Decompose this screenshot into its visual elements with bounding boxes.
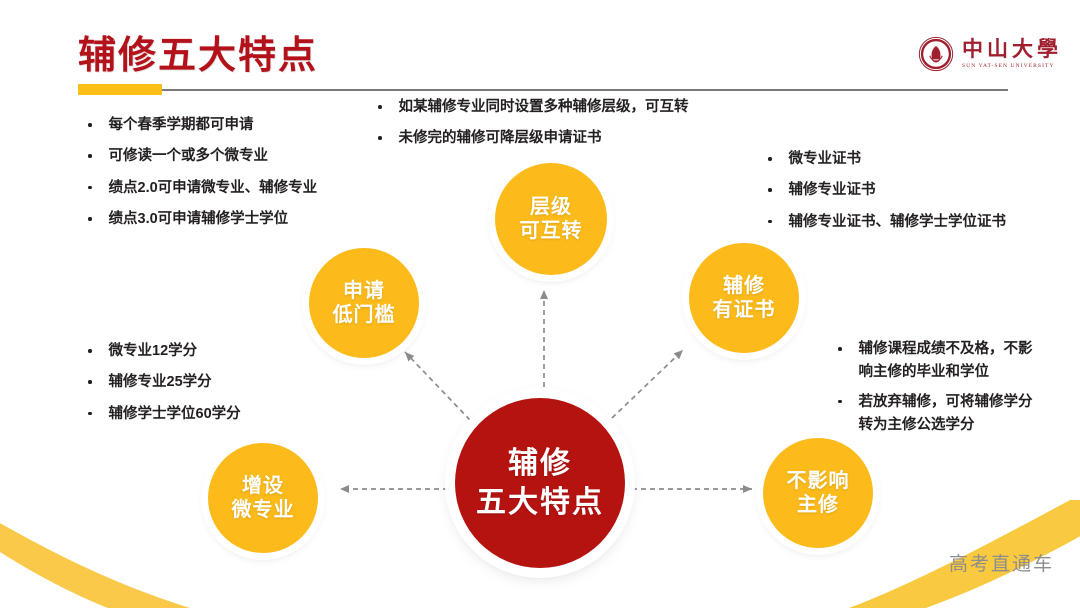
bullet-text: 辅修学士学位60学分	[109, 403, 241, 425]
bullet-dot-icon	[88, 186, 92, 190]
bullet-text: 绩点3.0可申请辅修学士学位	[109, 208, 289, 230]
bullet-dot-icon	[378, 105, 382, 109]
list-item: 辅修专业证书	[768, 179, 1068, 201]
watermark: 高考直通车	[949, 549, 1054, 576]
logo-name-cn: 中山大學	[962, 39, 1062, 60]
bullet-dot-icon	[88, 349, 92, 353]
connector-center-to-apply	[405, 352, 470, 420]
list-item: 如某辅修专业同时设置多种辅修层级，可互转	[378, 96, 758, 118]
connector-center-to-cert	[612, 350, 683, 418]
bullet-text: 若放弃辅修，可将辅修学分 转为主修公选学分	[859, 391, 1033, 438]
page-title: 辅修五大特点	[78, 24, 318, 79]
node-label-line1: 辅修	[723, 274, 765, 298]
list-item: 可修读一个或多个微专业	[88, 145, 388, 167]
bullet-dot-icon	[88, 412, 92, 416]
node-label-line2: 主修	[797, 493, 839, 517]
bullet-group-mid-left: 微专业12学分 辅修专业25学分 辅修学士学位60学分	[88, 340, 348, 434]
bullet-text: 微专业证书	[789, 148, 862, 170]
logo-name-en: SUN YAT-SEN UNIVERSITY	[962, 64, 1062, 70]
node-no-impact-major[interactable]: 不影响 主修	[763, 438, 873, 548]
node-label-line1: 辅修	[508, 444, 572, 483]
list-item: 辅修专业证书、辅修学士学位证书	[768, 211, 1068, 233]
node-label-line2: 五大特点	[476, 483, 604, 522]
list-item: 辅修专业25学分	[88, 371, 348, 393]
node-low-threshold[interactable]: 申请 低门槛	[309, 248, 419, 358]
bullet-dot-icon	[378, 136, 382, 140]
university-logo: 中山大學 SUN YAT-SEN UNIVERSITY	[918, 36, 1062, 72]
node-certificate[interactable]: 辅修 有证书	[689, 243, 799, 353]
node-label-line2: 低门槛	[333, 303, 396, 327]
node-label-line1: 不影响	[787, 469, 850, 493]
list-item: 绩点2.0可申请微专业、辅修专业	[88, 177, 388, 199]
list-item: 辅修课程成绩不及格，不影 响主修的毕业和学位	[838, 338, 1068, 385]
bullet-text: 每个春季学期都可申请	[109, 114, 254, 136]
bullet-dot-icon	[838, 400, 842, 404]
bullet-dot-icon	[768, 188, 772, 192]
bullet-dot-icon	[88, 123, 92, 127]
list-item: 未修完的辅修可降层级申请证书	[378, 127, 758, 149]
node-label-line1: 申请	[343, 279, 385, 303]
bullet-text: 绩点2.0可申请微专业、辅修专业	[109, 177, 318, 199]
bullet-text: 辅修课程成绩不及格，不影 响主修的毕业和学位	[859, 338, 1033, 385]
bullet-text: 辅修专业证书	[789, 179, 876, 201]
title-rule	[78, 89, 1008, 91]
list-item: 辅修学士学位60学分	[88, 403, 348, 425]
bullet-dot-icon	[838, 347, 842, 351]
bullet-group-top-right: 微专业证书 辅修专业证书 辅修专业证书、辅修学士学位证书	[768, 148, 1068, 242]
bullet-text: 可修读一个或多个微专业	[109, 145, 269, 167]
bullet-text: 辅修专业证书、辅修学士学位证书	[789, 211, 1007, 233]
slide: 辅修五大特点 中山大學 SUN YAT-SEN UNIVERSITY	[0, 0, 1080, 608]
list-item: 若放弃辅修，可将辅修学分 转为主修公选学分	[838, 391, 1068, 438]
bullet-text: 微专业12学分	[109, 340, 198, 362]
node-label-line1: 层级	[530, 195, 572, 219]
bullet-dot-icon	[88, 217, 92, 221]
bullet-dot-icon	[88, 380, 92, 384]
title-accent-bar	[78, 84, 162, 95]
bullet-text: 如某辅修专业同时设置多种辅修层级，可互转	[399, 96, 689, 118]
bullet-dot-icon	[768, 220, 772, 224]
bullet-group-top-center: 如某辅修专业同时设置多种辅修层级，可互转 未修完的辅修可降层级申请证书	[378, 96, 758, 159]
node-label-line2: 有证书	[713, 298, 776, 322]
node-label-line2: 微专业	[232, 498, 295, 522]
university-emblem-icon	[918, 36, 954, 72]
bullet-dot-icon	[88, 154, 92, 158]
bullet-dot-icon	[768, 157, 772, 161]
list-item: 每个春季学期都可申请	[88, 114, 388, 136]
list-item: 绩点3.0可申请辅修学士学位	[88, 208, 388, 230]
node-center-hub[interactable]: 辅修 五大特点	[455, 398, 625, 568]
node-level-convertible[interactable]: 层级 可互转	[495, 163, 607, 275]
list-item: 微专业证书	[768, 148, 1068, 170]
bullet-group-top-left: 每个春季学期都可申请 可修读一个或多个微专业 绩点2.0可申请微专业、辅修专业 …	[88, 114, 388, 240]
bullet-text: 未修完的辅修可降层级申请证书	[399, 127, 602, 149]
list-item: 微专业12学分	[88, 340, 348, 362]
node-label-line2: 可互转	[520, 219, 583, 243]
node-add-micro-major[interactable]: 增设 微专业	[208, 443, 318, 553]
bullet-text: 辅修专业25学分	[109, 371, 212, 393]
node-label-line1: 增设	[242, 474, 284, 498]
bullet-group-mid-right: 辅修课程成绩不及格，不影 响主修的毕业和学位 若放弃辅修，可将辅修学分 转为主修…	[838, 338, 1068, 444]
